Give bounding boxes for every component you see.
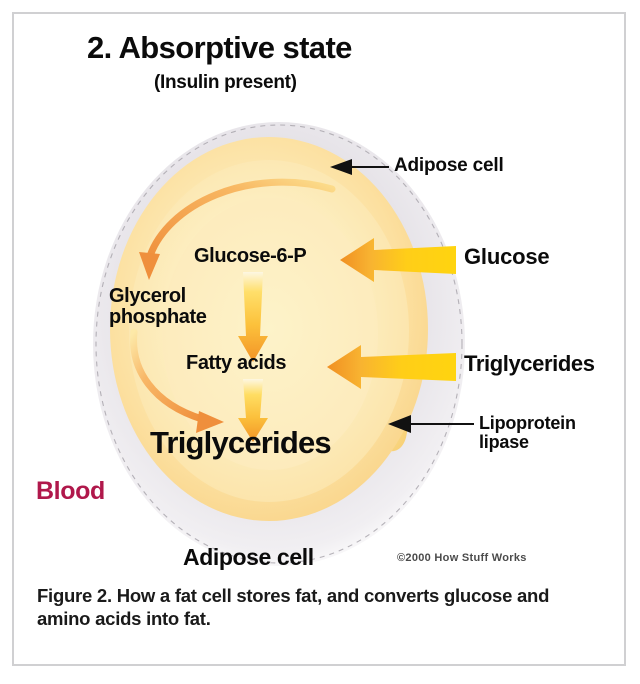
label-blood-region: Blood [36, 479, 105, 505]
figure-subtitle: (Insulin present) [154, 73, 297, 93]
adipose-cell-illustration [14, 14, 624, 572]
label-fatty-acids: Fatty acids [186, 353, 286, 374]
label-glucose: Glucose [464, 246, 549, 269]
label-glucose-6-phosphate: Glucose-6-P [194, 246, 306, 267]
label-adipose-cell-region: Adipose cell [183, 546, 314, 570]
figure-caption: Figure 2. How a fat cell stores fat, and… [37, 584, 597, 631]
figure-frame: 2. Absorptive state (Insulin present) Ad… [12, 12, 626, 666]
diagram-area: 2. Absorptive state (Insulin present) Ad… [14, 14, 624, 572]
label-glycerol-phosphate: Glycerol phosphate [109, 286, 207, 327]
label-adipose-cell-callout: Adipose cell [394, 156, 504, 176]
label-triglycerides-external: Triglycerides [464, 353, 595, 376]
label-lipoprotein-lipase: Lipoprotein lipase [479, 414, 576, 452]
label-triglycerides-internal: Triglycerides [150, 427, 331, 459]
copyright-notice: ©2000 How Stuff Works [397, 553, 527, 564]
figure-title: 2. Absorptive state [87, 32, 352, 64]
